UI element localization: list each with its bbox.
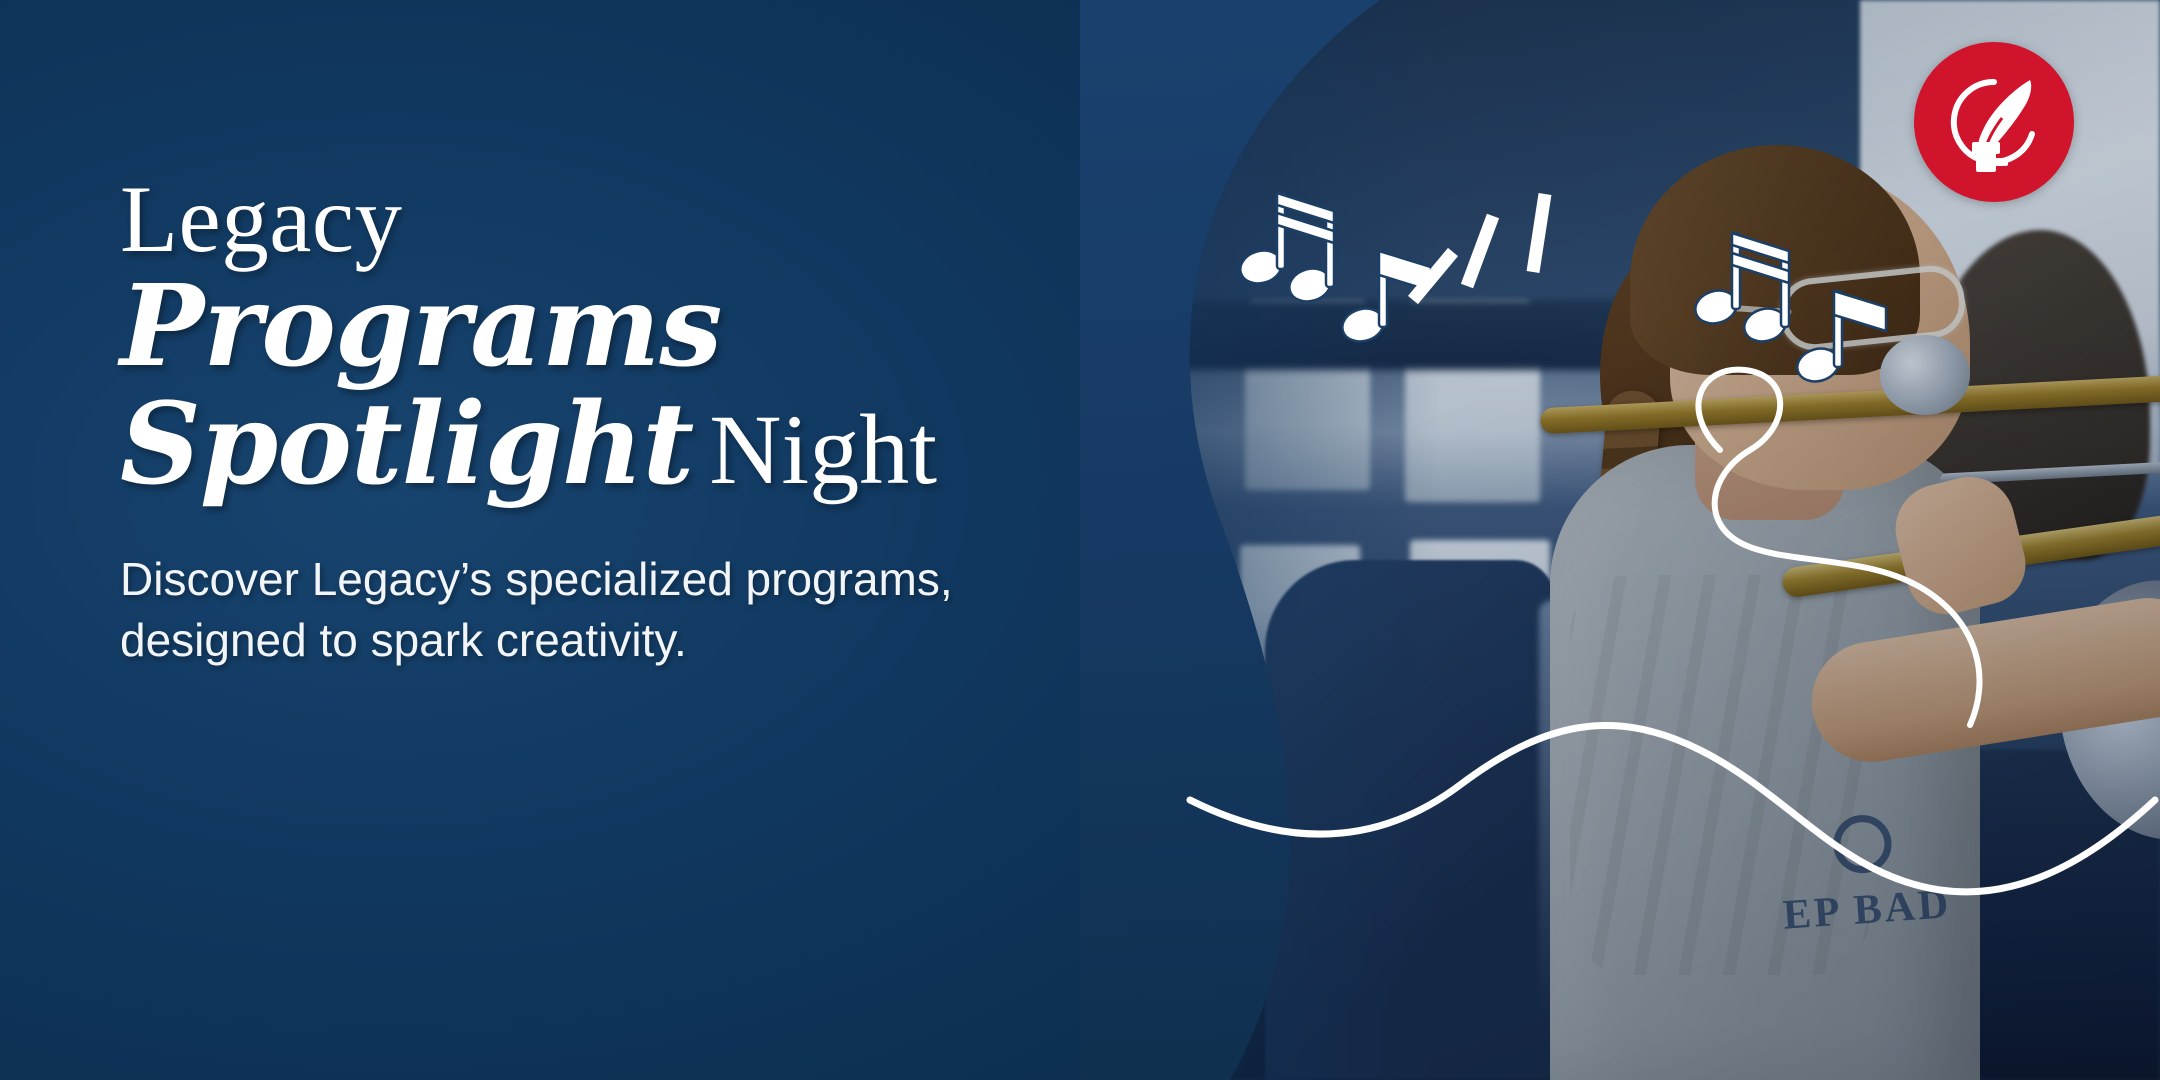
headline-line-2: Programs — [120, 271, 1120, 383]
music-notes-icon — [1690, 215, 1920, 390]
headline-line-1: Legacy — [120, 172, 1120, 267]
sparkle-lines-icon — [1405, 180, 1575, 310]
headline-emphasis: Spotlight — [120, 379, 693, 510]
copy-block: Legacy Programs SpotlightNight Discover … — [120, 172, 1120, 670]
headline-line-3: SpotlightNight — [120, 389, 1120, 501]
subtitle-line-2: designed to spark creativity. — [120, 610, 1120, 671]
brand-logo[interactable] — [1914, 42, 2074, 202]
event-banner: EP BAD — [0, 0, 2160, 1080]
subtitle: Discover Legacy’s specialized programs, … — [120, 549, 1120, 670]
subtitle-line-1: Discover Legacy’s specialized programs, — [120, 549, 1120, 610]
quill-inkwell-icon — [1938, 66, 2050, 178]
headline-rest: Night — [709, 394, 937, 505]
